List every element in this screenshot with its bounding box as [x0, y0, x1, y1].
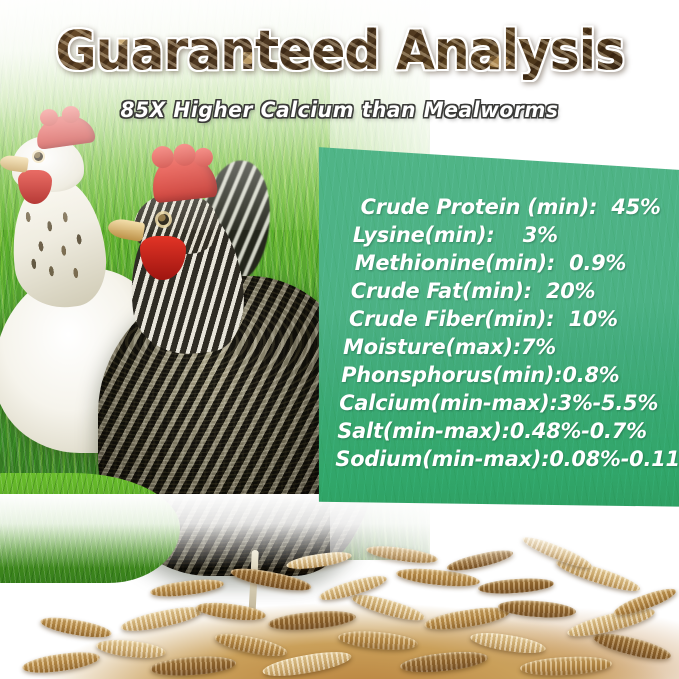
- nutrition-line: Moisture(max):7%: [316, 334, 668, 362]
- nutrition-line: Methionine(min): 0.9%: [316, 250, 668, 278]
- nutrition-list: Crude Protein (min): 45%Lysine(min): 3%M…: [316, 140, 679, 518]
- nutrition-line: Crude Fiber(min): 10%: [316, 306, 668, 334]
- product-infographic: Crude Protein (min): 45%Lysine(min): 3%M…: [0, 0, 679, 679]
- nutrition-line: Salt(min-max):0.48%-0.7%: [316, 418, 668, 446]
- nutrition-line: Sodium(min-max):0.08%-0.11%: [316, 446, 668, 474]
- nutrition-line: Lysine(min): 3%: [316, 222, 668, 250]
- upper-left-glow: [0, 0, 340, 120]
- nutrition-line: Calcium(min-max):3%-5.5%: [316, 390, 668, 418]
- nutrition-line: Phonsphorus(min):0.8%: [316, 362, 668, 390]
- nutrition-line: Crude Protein (min): 45%: [316, 194, 668, 222]
- nutrition-line: Crude Fat(min): 20%: [316, 278, 668, 306]
- larvae-top-white-fade: [0, 494, 679, 679]
